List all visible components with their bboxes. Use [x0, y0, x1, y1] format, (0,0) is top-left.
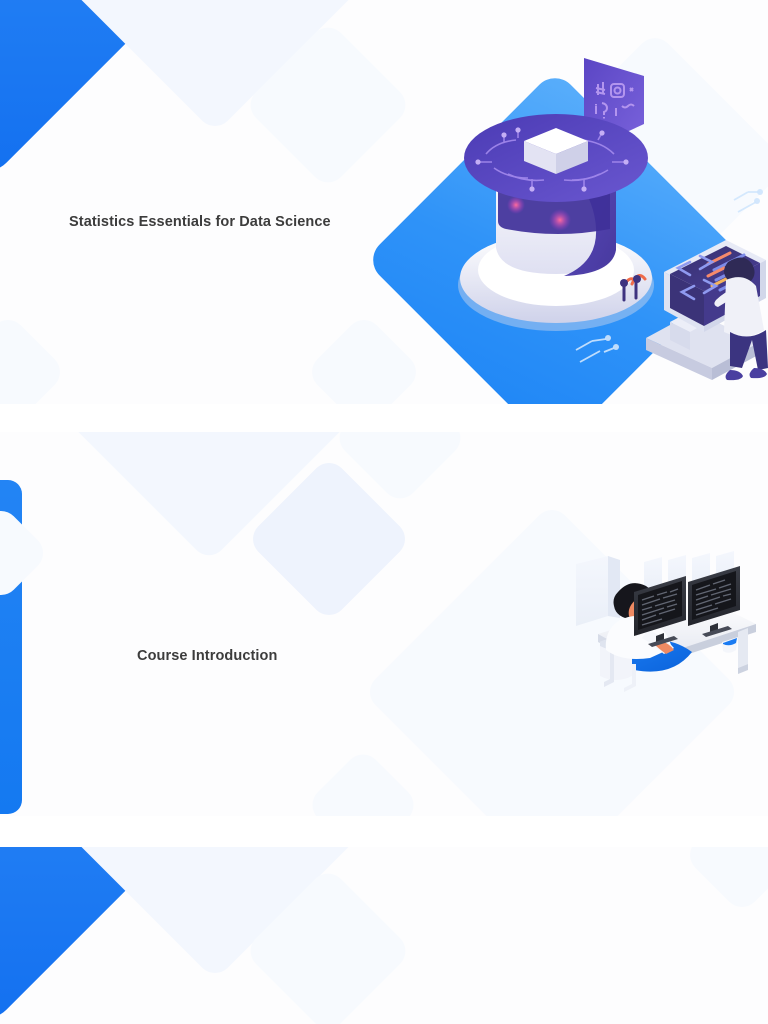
- decor-diamond: [246, 456, 413, 623]
- slide-2[interactable]: Course Introduction: [0, 432, 768, 816]
- decor-diamond: [683, 847, 768, 914]
- decor-diamond: [0, 313, 67, 404]
- ai-robot-illustration: [408, 50, 768, 400]
- decor-diamond: [305, 747, 421, 816]
- slide-gap: [0, 404, 768, 432]
- decor-diamond: [332, 432, 468, 506]
- decor-diamond: [305, 313, 424, 404]
- decor-diamond: [67, 0, 364, 133]
- slide-gap: [0, 816, 768, 847]
- slide-1-title: Statistics Essentials for Data Science: [69, 214, 331, 230]
- decor-diamond: [243, 20, 413, 190]
- left-edge-blue-bar: [0, 480, 22, 814]
- slide-deck: Statistics Essentials for Data Science: [0, 0, 768, 1024]
- top-left-blue-diamond: [0, 0, 183, 181]
- slide-3[interactable]: [0, 847, 768, 1024]
- slide-1[interactable]: Statistics Essentials for Data Science: [0, 0, 768, 404]
- developer-desk-illustration: [562, 548, 762, 698]
- decor-diamond: [67, 847, 364, 980]
- top-left-blue-diamond: [0, 847, 183, 1024]
- decor-diamond: [243, 866, 413, 1024]
- decor-diamond: [63, 432, 354, 563]
- slide-2-title: Course Introduction: [137, 648, 277, 664]
